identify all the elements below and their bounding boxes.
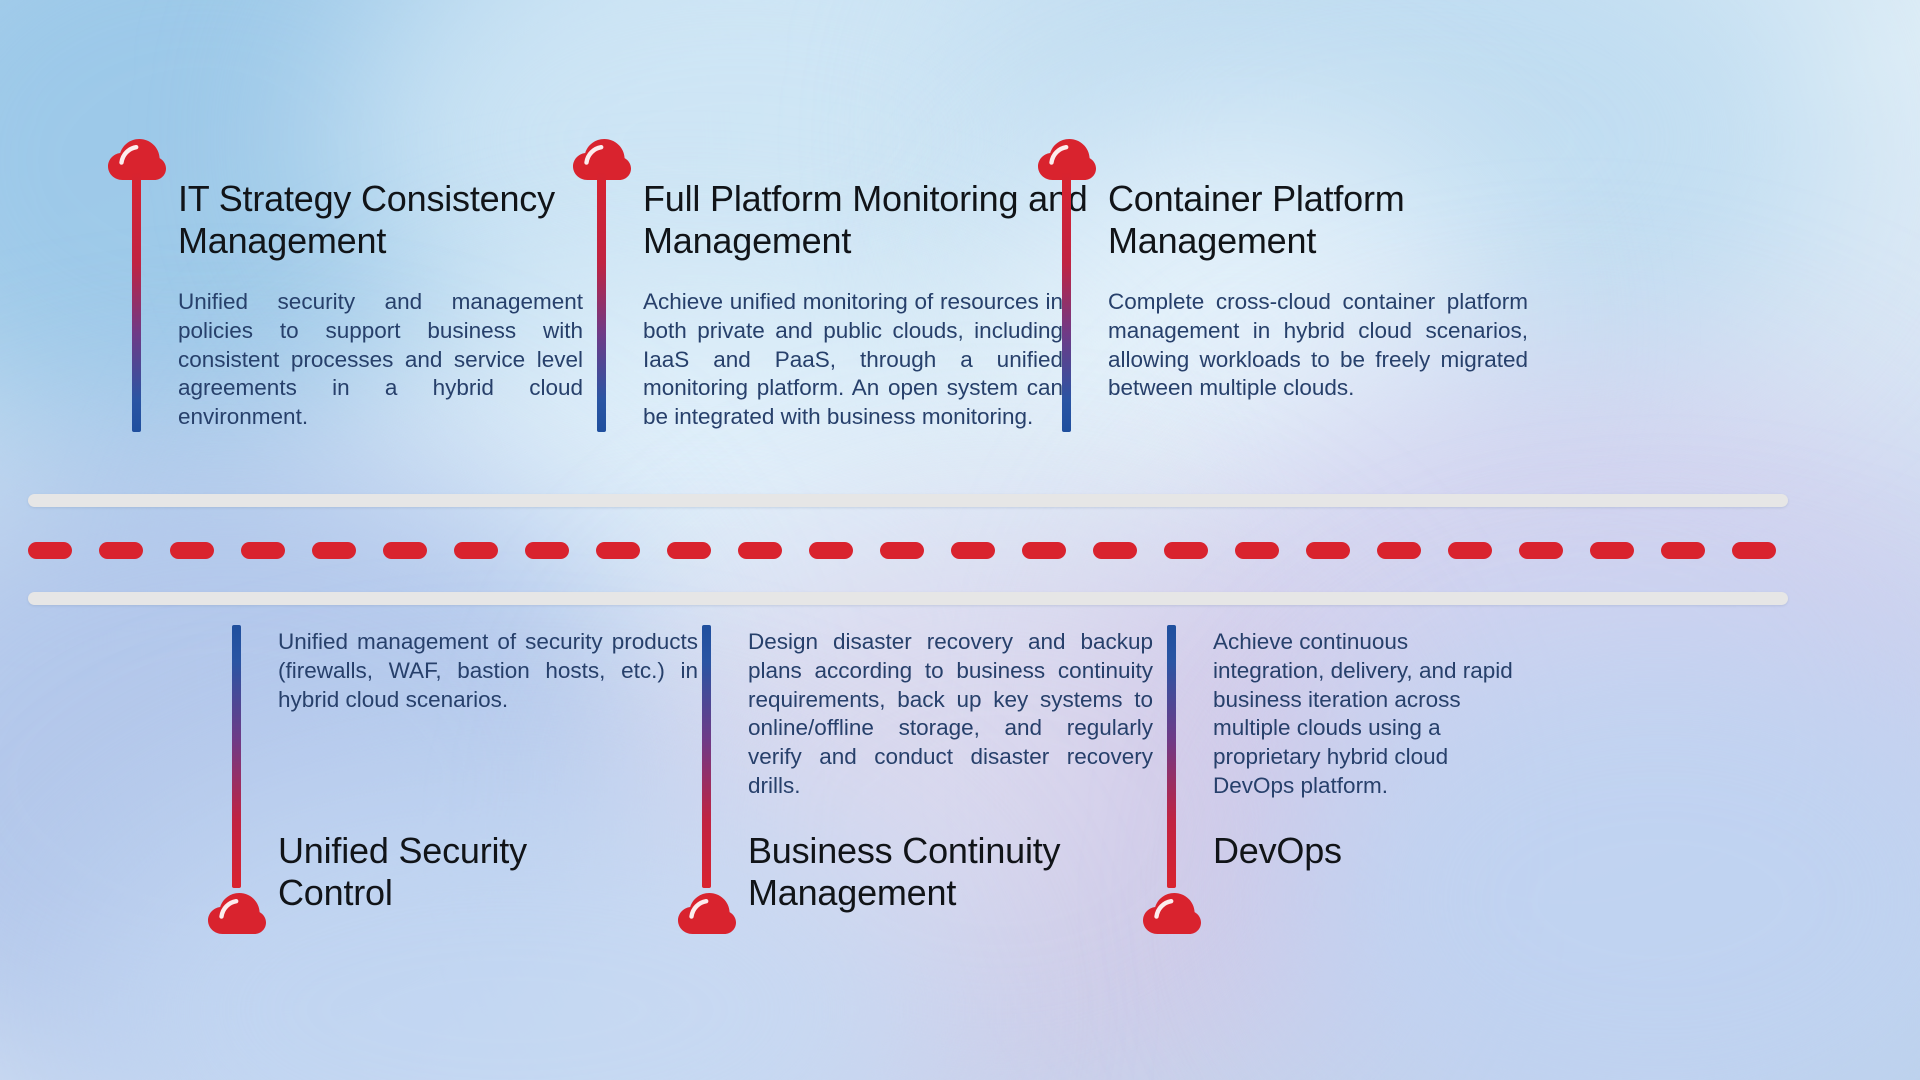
item-title: Full Platform Monitoring and Management [643, 178, 1133, 262]
connector-stem [132, 172, 141, 432]
cloud-icon [208, 893, 266, 935]
connector-stem [232, 625, 241, 888]
infographic-canvas: IT Strategy Consistency Management Unifi… [0, 0, 1920, 1080]
background-gradient [0, 0, 1920, 1080]
connector-stem [1167, 625, 1176, 888]
item-title: Business Continuity Management [748, 830, 1078, 914]
item-title: IT Strategy Consistency Management [178, 178, 638, 262]
connector-stem [597, 172, 606, 432]
item-description: Achieve continuous integration, delivery… [1213, 628, 1523, 801]
cloud-icon [1143, 893, 1201, 935]
connector-stem [1062, 172, 1071, 432]
item-description: Unified management of security products … [278, 628, 698, 714]
item-description: Design disaster recovery and backup plan… [748, 628, 1153, 801]
connector-stem [702, 625, 711, 888]
item-title: Unified Security Control [278, 830, 608, 914]
item-description: Unified security and management policies… [178, 288, 583, 432]
item-title: DevOps [1213, 830, 1543, 872]
item-description: Complete cross-cloud container platform … [1108, 288, 1528, 403]
item-description: Achieve unified monitoring of resources … [643, 288, 1063, 432]
cloud-icon [678, 893, 736, 935]
item-title: Container Platform Management [1108, 178, 1568, 262]
